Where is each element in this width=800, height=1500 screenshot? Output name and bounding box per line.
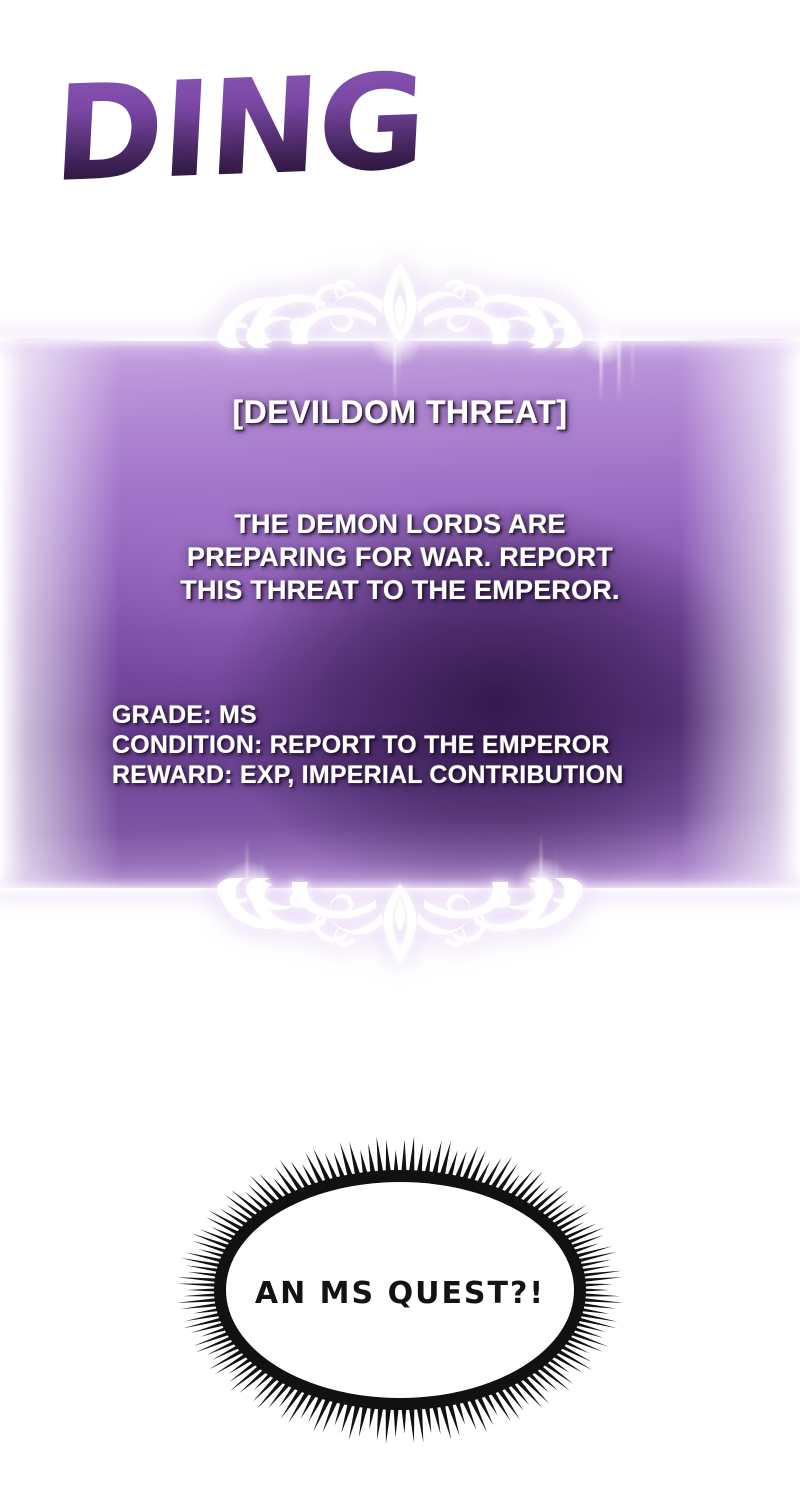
quest-stat-grade: GRADE: MS	[112, 700, 752, 730]
system-quest-panel: [DEVILDOM THREAT] THE DEMON LORDS ARE PR…	[0, 250, 800, 1010]
ding-sound-effect: DING	[62, 62, 362, 212]
quest-description: THE DEMON LORDS ARE PREPARING FOR WAR. R…	[0, 508, 800, 607]
quest-description-line: PREPARING FOR WAR. REPORT	[0, 541, 800, 574]
panel-bottom-edge-glow	[0, 888, 800, 891]
quest-description-line: THIS THREAT TO THE EMPEROR.	[0, 574, 800, 607]
quest-stats: GRADE: MS CONDITION: REPORT TO THE EMPER…	[112, 700, 752, 790]
quest-title: [DEVILDOM THREAT]	[0, 394, 800, 431]
bubble-text: AN MS QUEST?!	[150, 1133, 650, 1453]
shout-speech-bubble: AN MS QUEST?!	[150, 1130, 650, 1450]
quest-stat-reward: REWARD: EXP, IMPERIAL CONTRIBUTION	[112, 760, 752, 790]
panel-text-block: [DEVILDOM THREAT] THE DEMON LORDS ARE PR…	[0, 338, 800, 888]
ding-sfx-text: DING	[50, 45, 428, 212]
quest-description-line: THE DEMON LORDS ARE	[0, 508, 800, 541]
quest-stat-condition: CONDITION: REPORT TO THE EMPEROR	[112, 730, 752, 760]
